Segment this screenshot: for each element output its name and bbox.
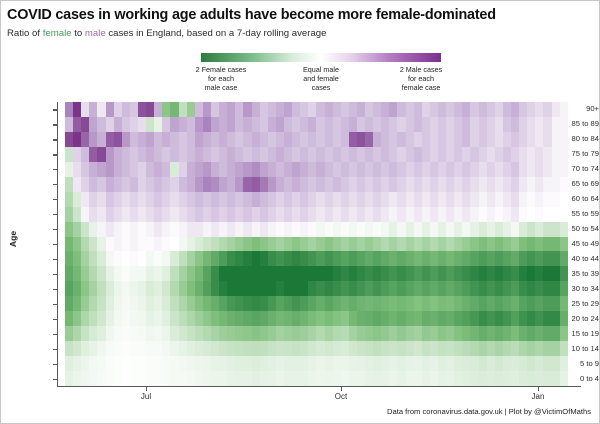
heatmap-row: [65, 371, 568, 386]
heatmap-cell: [73, 266, 81, 281]
heatmap-row: [65, 296, 568, 311]
heatmap-cell: [162, 132, 170, 147]
heatmap-cell: [341, 266, 349, 281]
heatmap-cell: [357, 132, 365, 147]
heatmap-cell: [260, 222, 268, 237]
heatmap-cell: [495, 341, 503, 356]
heatmap-cell: [438, 132, 446, 147]
heatmap-cell: [211, 162, 219, 177]
heatmap-cell: [154, 371, 162, 386]
heatmap-cell: [308, 102, 316, 117]
heatmap-cell: [138, 237, 146, 252]
heatmap-cell: [179, 341, 187, 356]
heatmap-cell: [527, 132, 535, 147]
y-axis-tick: [53, 304, 57, 305]
heatmap-cell: [487, 311, 495, 326]
heatmap-cell: [211, 192, 219, 207]
heatmap-cell: [349, 326, 357, 341]
heatmap-cell: [487, 251, 495, 266]
heatmap-cell: [308, 356, 316, 371]
heatmap-cell: [146, 311, 154, 326]
heatmap-cell: [162, 177, 170, 192]
heatmap-cell: [154, 207, 162, 222]
heatmap-cell: [406, 266, 414, 281]
heatmap-cell: [308, 222, 316, 237]
heatmap-cell: [195, 132, 203, 147]
heatmap-cell: [511, 251, 519, 266]
heatmap-cell: [381, 296, 389, 311]
heatmap-row: [65, 281, 568, 296]
heatmap-cell: [179, 371, 187, 386]
heatmap-cell: [470, 356, 478, 371]
heatmap-cell: [422, 341, 430, 356]
heatmap-cell: [219, 177, 227, 192]
heatmap-cell: [292, 371, 300, 386]
heatmap-cell: [349, 237, 357, 252]
heatmap-cell: [89, 132, 97, 147]
heatmap-cell: [430, 147, 438, 162]
heatmap-cell: [73, 296, 81, 311]
heatmap-cell: [365, 251, 373, 266]
heatmap-cell: [65, 237, 73, 252]
heatmap-cell: [373, 192, 381, 207]
y-axis-label: 5 to 9: [551, 359, 599, 368]
heatmap-cell: [195, 296, 203, 311]
heatmap-cell: [154, 162, 162, 177]
heatmap-cell: [122, 266, 130, 281]
heatmap-cell: [276, 356, 284, 371]
heatmap-cell: [527, 147, 535, 162]
heatmap-cell: [406, 341, 414, 356]
heatmap-cell: [179, 102, 187, 117]
heatmap-cell: [300, 222, 308, 237]
heatmap-cell: [260, 371, 268, 386]
heatmap-cell: [535, 251, 543, 266]
heatmap-cell: [243, 281, 251, 296]
heatmap-cell: [325, 251, 333, 266]
heatmap-cell: [397, 266, 405, 281]
heatmap-cell: [462, 147, 470, 162]
heatmap-cell: [308, 177, 316, 192]
heatmap-grid: [65, 102, 581, 386]
heatmap-cell: [422, 147, 430, 162]
y-axis-tick: [53, 229, 57, 230]
heatmap-cell: [243, 102, 251, 117]
heatmap-cell: [97, 237, 105, 252]
heatmap-cell: [195, 177, 203, 192]
heatmap-cell: [406, 296, 414, 311]
legend-label-line: cases: [275, 83, 367, 92]
heatmap-cell: [316, 251, 324, 266]
heatmap-cell: [187, 192, 195, 207]
heatmap-cell: [170, 341, 178, 356]
heatmap-cell: [414, 311, 422, 326]
heatmap-row: [65, 266, 568, 281]
heatmap-cell: [373, 207, 381, 222]
heatmap-cell: [73, 326, 81, 341]
subtitle-female-word: female: [43, 28, 72, 39]
heatmap-cell: [325, 207, 333, 222]
heatmap-cell: [170, 162, 178, 177]
heatmap-cell: [114, 281, 122, 296]
heatmap-cell: [535, 371, 543, 386]
heatmap-cell: [252, 266, 260, 281]
heatmap-cell: [397, 296, 405, 311]
heatmap-cell: [170, 102, 178, 117]
heatmap-cell: [219, 311, 227, 326]
heatmap-cell: [89, 237, 97, 252]
heatmap-cell: [219, 162, 227, 177]
heatmap-cell: [203, 222, 211, 237]
heatmap-cell: [397, 237, 405, 252]
heatmap-cell: [89, 177, 97, 192]
heatmap-cell: [89, 162, 97, 177]
heatmap-cell: [89, 147, 97, 162]
heatmap-cell: [365, 326, 373, 341]
heatmap-cell: [268, 281, 276, 296]
heatmap-cell: [106, 266, 114, 281]
heatmap-cell: [227, 132, 235, 147]
heatmap-cell: [268, 266, 276, 281]
heatmap-cell: [138, 117, 146, 132]
heatmap-cell: [462, 356, 470, 371]
heatmap-cell: [373, 281, 381, 296]
heatmap-cell: [284, 251, 292, 266]
heatmap-cell: [446, 266, 454, 281]
heatmap-cell: [146, 222, 154, 237]
heatmap-cell: [414, 326, 422, 341]
heatmap-cell: [430, 222, 438, 237]
heatmap-cell: [389, 311, 397, 326]
heatmap-cell: [268, 162, 276, 177]
heatmap-cell: [252, 341, 260, 356]
heatmap-cell: [227, 237, 235, 252]
heatmap-cell: [268, 356, 276, 371]
heatmap-cell: [373, 222, 381, 237]
heatmap-cell: [162, 266, 170, 281]
heatmap-cell: [325, 177, 333, 192]
heatmap-cell: [219, 237, 227, 252]
heatmap-cell: [308, 132, 316, 147]
heatmap-cell: [146, 132, 154, 147]
heatmap-cell: [179, 296, 187, 311]
heatmap-cell: [406, 251, 414, 266]
heatmap-cell: [333, 177, 341, 192]
heatmap-cell: [114, 117, 122, 132]
heatmap-cell: [114, 102, 122, 117]
heatmap-cell: [211, 132, 219, 147]
heatmap-cell: [519, 117, 527, 132]
heatmap-cell: [446, 371, 454, 386]
heatmap-cell: [479, 177, 487, 192]
heatmap-cell: [106, 192, 114, 207]
heatmap-cell: [389, 177, 397, 192]
heatmap-cell: [365, 356, 373, 371]
heatmap-cell: [479, 371, 487, 386]
heatmap-cell: [316, 237, 324, 252]
heatmap-cell: [162, 117, 170, 132]
heatmap-cell: [454, 237, 462, 252]
heatmap-cell: [341, 251, 349, 266]
heatmap-cell: [219, 192, 227, 207]
heatmap-cell: [406, 222, 414, 237]
heatmap-cell: [276, 266, 284, 281]
heatmap-cell: [454, 326, 462, 341]
heatmap-cell: [389, 132, 397, 147]
heatmap-cell: [65, 162, 73, 177]
heatmap-cell: [89, 117, 97, 132]
heatmap-cell: [438, 177, 446, 192]
heatmap-cell: [97, 192, 105, 207]
heatmap-cell: [487, 371, 495, 386]
heatmap-cell: [114, 251, 122, 266]
heatmap-cell: [300, 237, 308, 252]
heatmap-cell: [89, 371, 97, 386]
heatmap-cell: [138, 371, 146, 386]
heatmap-cell: [454, 311, 462, 326]
heatmap-cell: [154, 296, 162, 311]
heatmap-cell: [349, 251, 357, 266]
heatmap-cell: [422, 251, 430, 266]
heatmap-cell: [292, 207, 300, 222]
heatmap-cell: [235, 266, 243, 281]
heatmap-cell: [381, 117, 389, 132]
heatmap-cell: [349, 117, 357, 132]
heatmap-cell: [341, 177, 349, 192]
heatmap-cell: [81, 177, 89, 192]
heatmap-cell: [300, 311, 308, 326]
heatmap-cell: [179, 326, 187, 341]
heatmap-cell: [446, 341, 454, 356]
heatmap-cell: [527, 207, 535, 222]
heatmap-cell: [308, 162, 316, 177]
heatmap-cell: [349, 132, 357, 147]
heatmap-cell: [535, 266, 543, 281]
heatmap-cell: [170, 207, 178, 222]
legend-label-line: and female: [275, 74, 367, 83]
heatmap-cell: [422, 326, 430, 341]
heatmap-cell: [308, 281, 316, 296]
heatmap-cell: [430, 296, 438, 311]
heatmap-cell: [122, 326, 130, 341]
heatmap-cell: [162, 162, 170, 177]
heatmap-cell: [179, 251, 187, 266]
heatmap-cell: [446, 207, 454, 222]
heatmap-cell: [203, 177, 211, 192]
heatmap-cell: [389, 266, 397, 281]
heatmap-cell: [130, 207, 138, 222]
heatmap-cell: [65, 371, 73, 386]
heatmap-cell: [179, 132, 187, 147]
heatmap-cell: [454, 162, 462, 177]
x-axis-tick: [341, 387, 342, 391]
heatmap-cell: [227, 281, 235, 296]
heatmap-cell: [397, 132, 405, 147]
heatmap-cell: [365, 192, 373, 207]
heatmap-cell: [276, 371, 284, 386]
heatmap-cell: [487, 117, 495, 132]
heatmap-cell: [365, 177, 373, 192]
heatmap-cell: [503, 266, 511, 281]
heatmap-cell: [535, 192, 543, 207]
heatmap-cell: [341, 132, 349, 147]
heatmap-cell: [114, 222, 122, 237]
heatmap-cell: [219, 102, 227, 117]
heatmap-cell: [260, 311, 268, 326]
heatmap-cell: [130, 281, 138, 296]
heatmap-cell: [114, 147, 122, 162]
heatmap-cell: [438, 311, 446, 326]
y-axis-label: 45 to 49: [551, 239, 599, 248]
heatmap-cell: [276, 281, 284, 296]
heatmap-cell: [97, 102, 105, 117]
heatmap-cell: [430, 281, 438, 296]
heatmap-cell: [495, 192, 503, 207]
heatmap-cell: [365, 237, 373, 252]
heatmap-cell: [341, 147, 349, 162]
heatmap-cell: [154, 251, 162, 266]
heatmap-cell: [130, 192, 138, 207]
heatmap-cell: [535, 147, 543, 162]
y-axis-label: 70 to 74: [551, 164, 599, 173]
heatmap-cell: [430, 326, 438, 341]
heatmap-cell: [170, 326, 178, 341]
heatmap-cell: [73, 222, 81, 237]
heatmap-cell: [89, 251, 97, 266]
heatmap-cell: [438, 251, 446, 266]
heatmap-cell: [276, 341, 284, 356]
heatmap-cell: [446, 147, 454, 162]
heatmap-cell: [260, 102, 268, 117]
heatmap-cell: [146, 237, 154, 252]
heatmap-cell: [260, 147, 268, 162]
heatmap-cell: [170, 147, 178, 162]
heatmap-cell: [114, 371, 122, 386]
heatmap-cell: [243, 207, 251, 222]
heatmap-cell: [292, 281, 300, 296]
heatmap-cell: [446, 177, 454, 192]
heatmap-cell: [316, 296, 324, 311]
heatmap-cell: [203, 117, 211, 132]
heatmap-cell: [243, 311, 251, 326]
heatmap-cell: [414, 296, 422, 311]
heatmap-cell: [414, 281, 422, 296]
heatmap-cell: [438, 162, 446, 177]
heatmap-cell: [389, 326, 397, 341]
heatmap-cell: [349, 296, 357, 311]
heatmap-cell: [260, 237, 268, 252]
heatmap-cell: [252, 371, 260, 386]
heatmap-cell: [495, 326, 503, 341]
heatmap-cell: [268, 237, 276, 252]
heatmap-cell: [446, 132, 454, 147]
heatmap-cell: [276, 296, 284, 311]
heatmap-cell: [179, 356, 187, 371]
heatmap-cell: [422, 132, 430, 147]
heatmap-cell: [381, 162, 389, 177]
heatmap-cell: [292, 251, 300, 266]
heatmap-cell: [73, 371, 81, 386]
heatmap-cell: [114, 237, 122, 252]
heatmap-cell: [438, 356, 446, 371]
heatmap-cell: [381, 281, 389, 296]
heatmap-cell: [365, 147, 373, 162]
heatmap-cell: [357, 162, 365, 177]
heatmap-cell: [503, 147, 511, 162]
heatmap-cell: [97, 177, 105, 192]
heatmap-cell: [203, 266, 211, 281]
heatmap-cell: [154, 117, 162, 132]
y-axis-label: 40 to 44: [551, 254, 599, 263]
heatmap-cell: [211, 237, 219, 252]
heatmap-cell: [438, 326, 446, 341]
legend-label-line: male case: [175, 83, 267, 92]
heatmap-cell: [406, 237, 414, 252]
heatmap-cell: [162, 222, 170, 237]
heatmap-cell: [162, 147, 170, 162]
heatmap-cell: [357, 237, 365, 252]
heatmap-cell: [138, 132, 146, 147]
heatmap-cell: [462, 117, 470, 132]
heatmap-cell: [349, 162, 357, 177]
heatmap-cell: [422, 296, 430, 311]
heatmap-cell: [462, 311, 470, 326]
heatmap-cell: [438, 102, 446, 117]
heatmap-cell: [357, 207, 365, 222]
heatmap-cell: [454, 147, 462, 162]
heatmap-cell: [235, 162, 243, 177]
heatmap-cell: [470, 162, 478, 177]
heatmap-cell: [138, 251, 146, 266]
heatmap-cell: [454, 266, 462, 281]
heatmap-cell: [349, 311, 357, 326]
y-axis-tick: [53, 244, 57, 245]
heatmap-cell: [243, 117, 251, 132]
heatmap-cell: [284, 341, 292, 356]
heatmap-cell: [179, 266, 187, 281]
heatmap-cell: [292, 341, 300, 356]
heatmap-cell: [227, 222, 235, 237]
heatmap-cell: [130, 117, 138, 132]
heatmap-cell: [333, 207, 341, 222]
heatmap-cell: [211, 222, 219, 237]
heatmap-cell: [511, 237, 519, 252]
heatmap-cell: [454, 251, 462, 266]
heatmap-cell: [479, 102, 487, 117]
legend-label-female: 2 Female casesfor eachmale case: [175, 65, 267, 92]
heatmap-cell: [243, 147, 251, 162]
heatmap-cell: [284, 162, 292, 177]
heatmap-cell: [162, 281, 170, 296]
heatmap-cell: [162, 311, 170, 326]
heatmap-cell: [511, 102, 519, 117]
heatmap-cell: [187, 281, 195, 296]
heatmap-cell: [73, 281, 81, 296]
heatmap-cell: [422, 281, 430, 296]
heatmap-cell: [162, 296, 170, 311]
heatmap-cell: [454, 356, 462, 371]
heatmap-cell: [276, 207, 284, 222]
y-axis-label: 55 to 59: [551, 209, 599, 218]
heatmap-cell: [325, 162, 333, 177]
legend-label-male: 2 Male casesfor eachfemale case: [375, 65, 467, 92]
heatmap-cell: [235, 356, 243, 371]
heatmap-cell: [389, 296, 397, 311]
heatmap-cell: [130, 102, 138, 117]
heatmap-cell: [316, 132, 324, 147]
heatmap-cell: [284, 326, 292, 341]
heatmap-cell: [106, 326, 114, 341]
